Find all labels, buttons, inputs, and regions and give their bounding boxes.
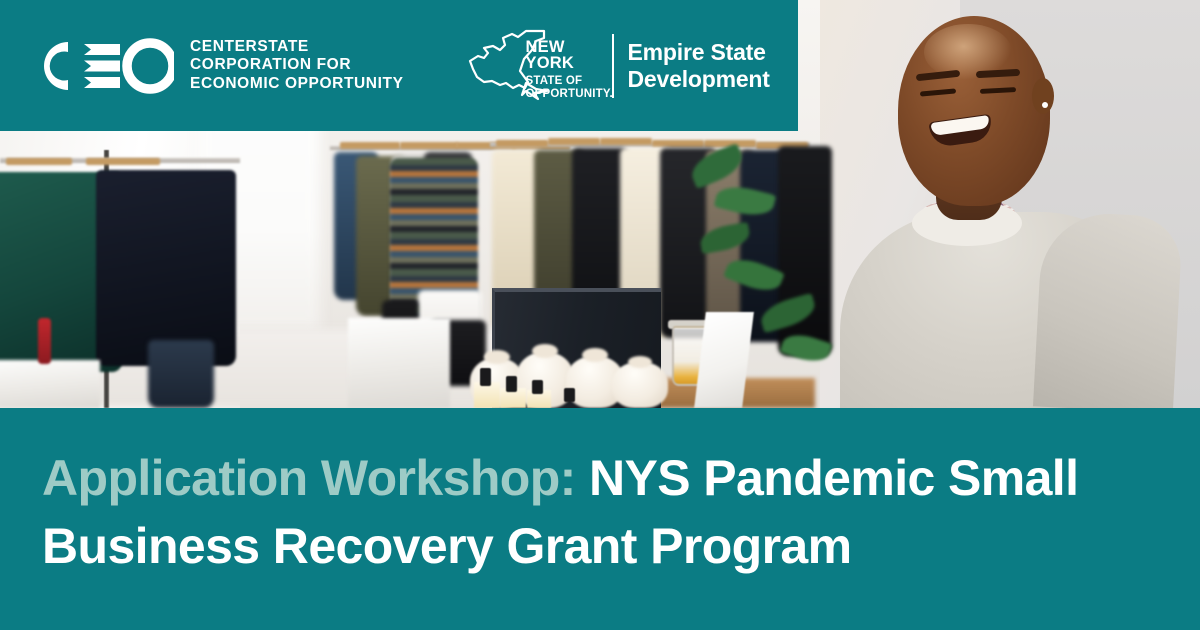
perfume-bottle-cap bbox=[564, 388, 575, 402]
event-banner: CENTERSTATE CORPORATION FOR ECONOMIC OPP… bbox=[0, 0, 1200, 630]
hanger-icon bbox=[548, 138, 600, 145]
empire-state-development-logo[interactable]: NEW YORK STATE OF OPPORTUNITY. Empire St… bbox=[464, 25, 770, 107]
banner-title: Application Workshop: NYS Pandemic Small… bbox=[42, 444, 1162, 580]
hanger-icon bbox=[600, 138, 652, 145]
nys-line-state-of: STATE OF bbox=[526, 76, 613, 88]
esd-line-1: Empire State bbox=[628, 39, 770, 66]
hanger-icon bbox=[6, 158, 72, 165]
display-pedestal-middle bbox=[348, 318, 450, 408]
ceo-name-line-2: CORPORATION FOR bbox=[190, 56, 404, 75]
display-pedestal-left bbox=[0, 360, 100, 408]
ceo-logo[interactable]: CENTERSTATE CORPORATION FOR ECONOMIC OPP… bbox=[34, 38, 404, 94]
ceo-monogram-icon bbox=[34, 38, 174, 94]
cotton-pouch-tie bbox=[532, 344, 558, 358]
hanger-icon bbox=[652, 140, 704, 147]
cotton-pouch-tie bbox=[628, 356, 652, 368]
nys-line-new-york: NEW YORK bbox=[526, 39, 613, 72]
perfume-bottle-cap bbox=[532, 380, 543, 394]
hanger-icon bbox=[86, 158, 160, 165]
cotton-pouch bbox=[612, 362, 668, 408]
garment-denim bbox=[148, 340, 214, 408]
title-band: Application Workshop: NYS Pandemic Small… bbox=[0, 408, 1200, 630]
ceo-logo-wordmark: CENTERSTATE CORPORATION FOR ECONOMIC OPP… bbox=[190, 38, 404, 94]
person-arm bbox=[1033, 210, 1183, 408]
new-york-state-mark: NEW YORK STATE OF OPPORTUNITY. bbox=[464, 25, 608, 107]
hanger-icon bbox=[340, 142, 400, 149]
fire-extinguisher bbox=[38, 318, 51, 364]
cotton-pouch-tie bbox=[582, 348, 608, 362]
ceo-name-line-1: CENTERSTATE bbox=[190, 38, 404, 57]
logo-header-bar: CENTERSTATE CORPORATION FOR ECONOMIC OPP… bbox=[0, 0, 798, 131]
perfume-bottle-cap bbox=[480, 368, 491, 386]
new-york-wordmark: NEW YORK STATE OF OPPORTUNITY. bbox=[526, 39, 613, 101]
shop-owner-portrait bbox=[820, 0, 1200, 408]
esd-wordmark: Empire State Development bbox=[628, 39, 770, 93]
banner-title-lede: Application Workshop: bbox=[42, 450, 576, 506]
hanger-icon bbox=[400, 142, 458, 149]
perfume-bottle-cap bbox=[506, 376, 517, 392]
person-ear bbox=[1032, 78, 1054, 114]
ceo-name-line-3: ECONOMIC OPPORTUNITY bbox=[190, 75, 404, 94]
nys-line-opportunity: OPPORTUNITY. bbox=[526, 89, 613, 101]
person-earring bbox=[1042, 102, 1048, 108]
garment-navy-jacket bbox=[96, 170, 236, 366]
esd-line-2: Development bbox=[628, 66, 770, 93]
hanger-icon bbox=[496, 140, 548, 147]
cotton-pouch-tie bbox=[484, 350, 510, 364]
